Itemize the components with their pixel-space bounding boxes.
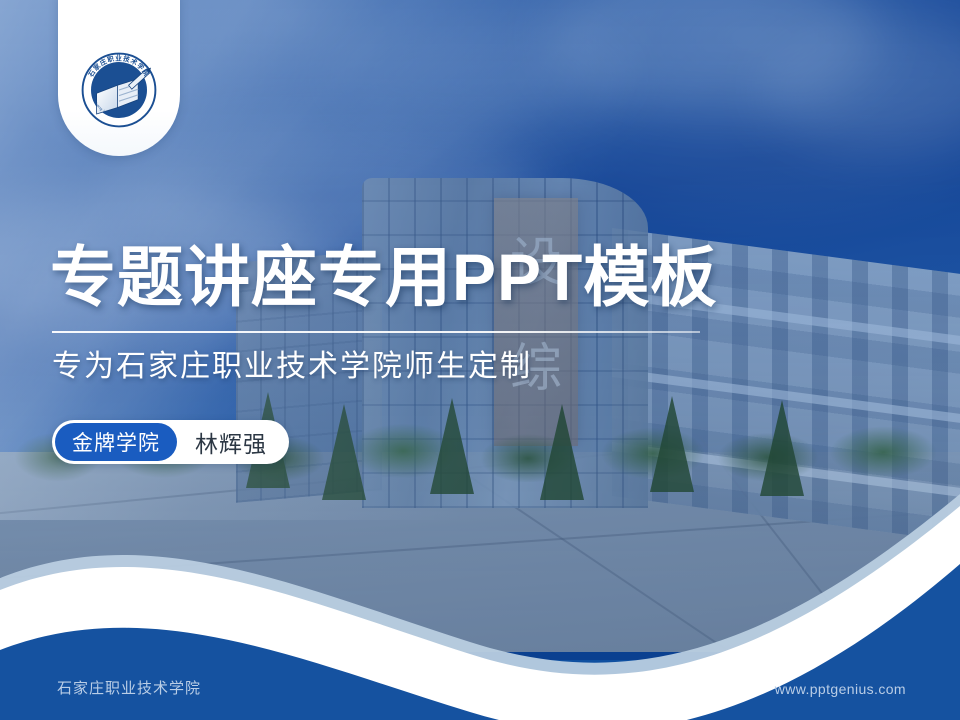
- slide-subtitle: 专为石家庄职业技术学院师生定制: [52, 346, 532, 388]
- university-logo-icon: 石家庄职业技术学院 Shijiazhuang Vocational Techno…: [79, 50, 159, 130]
- footer-institution-name: 石家庄职业技术学院: [57, 677, 201, 698]
- footer-website[interactable]: www.pptgenius.com: [775, 681, 906, 697]
- badge-tag-label: 金牌学院: [55, 423, 177, 461]
- presentation-slide: 设 综: [0, 0, 960, 720]
- title-divider-rule: [52, 331, 700, 333]
- presenter-name: 林辉强: [195, 425, 267, 459]
- presenter-badge: 金牌学院 林辉强: [52, 420, 289, 464]
- slide-title: 专题讲座专用PPT模板: [50, 238, 717, 316]
- logo-banner-tab: 石家庄职业技术学院 Shijiazhuang Vocational Techno…: [58, 0, 180, 156]
